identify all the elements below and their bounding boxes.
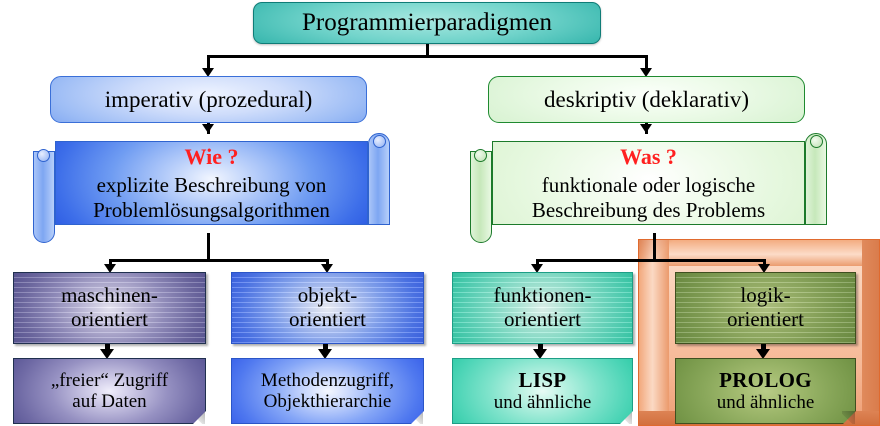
node-programmierparadigmen[interactable]: Programmierparadigmen [253,2,601,44]
scroll-curl-eye-left [474,149,487,162]
scroll-sheet: Was ? funktionale oder logische Beschrei… [492,141,805,225]
node-maschinen-orientiert[interactable]: maschinen- orientiert [13,272,206,344]
node-label: deskriptiv (deklarativ) [544,87,749,113]
arrow-to-wie [202,124,214,133]
scroll-sheet: Wie ? explizite Beschreibung von Problem… [55,141,368,225]
node-objekt-orientiert[interactable]: objekt- orientiert [231,272,424,344]
scroll-line-1: funktionale oder logische [542,173,755,198]
node-label-line-1: LISP [519,369,567,393]
node-label-line-1: objekt- [298,284,357,308]
node-label-line-1: logik- [740,284,790,308]
scroll-question: Was ? [620,144,677,170]
node-methodenzugriff[interactable]: Methodenzugriff, Objekthierarchie [231,358,424,424]
connector-was-bus [536,259,766,262]
connector-wie-bus [109,259,329,262]
scroll-curl-eye-left [37,149,50,162]
arrow-to-methoden [318,349,332,359]
node-deskriptiv[interactable]: deskriptiv (deklarativ) [488,76,805,123]
scroll-curl-left [33,151,55,243]
node-label-line-2: orientiert [727,308,804,332]
diagram-canvas: Programmierparadigmen imperativ (prozedu… [0,0,880,426]
arrow-to-freier [100,349,114,359]
arrow-to-prolog [756,349,770,359]
node-label-line-2: Objekthierarchie [264,391,392,412]
scroll-line-2: Problemlösungsalgorithmen [93,198,330,223]
node-freier-zugriff[interactable]: „freier“ Zugriff auf Daten [13,358,206,424]
arrow-to-lisp [533,349,547,359]
highlight-bevel-right [862,240,879,425]
node-scroll-was[interactable]: Was ? funktionale oder logische Beschrei… [470,133,827,243]
highlight-corner-shade [639,240,673,270]
node-prolog[interactable]: PROLOG und ähnliche [675,358,856,424]
scroll-curl-left [470,151,492,243]
node-label: Programmierparadigmen [302,9,552,37]
node-label-line-2: orientiert [71,308,148,332]
node-label-line-2: auf Daten [72,391,146,412]
node-label-line-1: funktionen- [494,284,592,308]
connector-root-bus [207,55,648,58]
scroll-line-1: explizite Beschreibung von [97,173,327,198]
scroll-curl-eye-right [810,135,823,148]
node-lisp[interactable]: LISP und ähnliche [452,358,633,424]
scroll-line-2: Beschreibung des Problems [532,198,765,223]
node-imperativ[interactable]: imperativ (prozedural) [50,76,367,123]
node-label-line-1: PROLOG [719,369,812,393]
node-label-line-2: orientiert [504,308,581,332]
node-logik-orientiert[interactable]: logik- orientiert [675,272,856,344]
node-label-line-2: orientiert [289,308,366,332]
scroll-curl-eye-right [373,135,386,148]
node-label-line-1: „freier“ Zugriff [51,370,168,391]
node-label-line-1: maschinen- [61,284,158,308]
node-label-line-1: Methodenzugriff, [261,370,394,391]
node-scroll-wie[interactable]: Wie ? explizite Beschreibung von Problem… [33,133,390,243]
node-label: imperativ (prozedural) [105,87,313,113]
node-label-line-2: und ähnliche [494,392,592,413]
node-label-line-2: und ähnliche [717,392,815,413]
scroll-question: Wie ? [185,144,239,170]
arrow-to-was [640,124,652,133]
node-funktionen-orientiert[interactable]: funktionen- orientiert [452,272,633,344]
highlight-bevel-top [639,240,879,266]
